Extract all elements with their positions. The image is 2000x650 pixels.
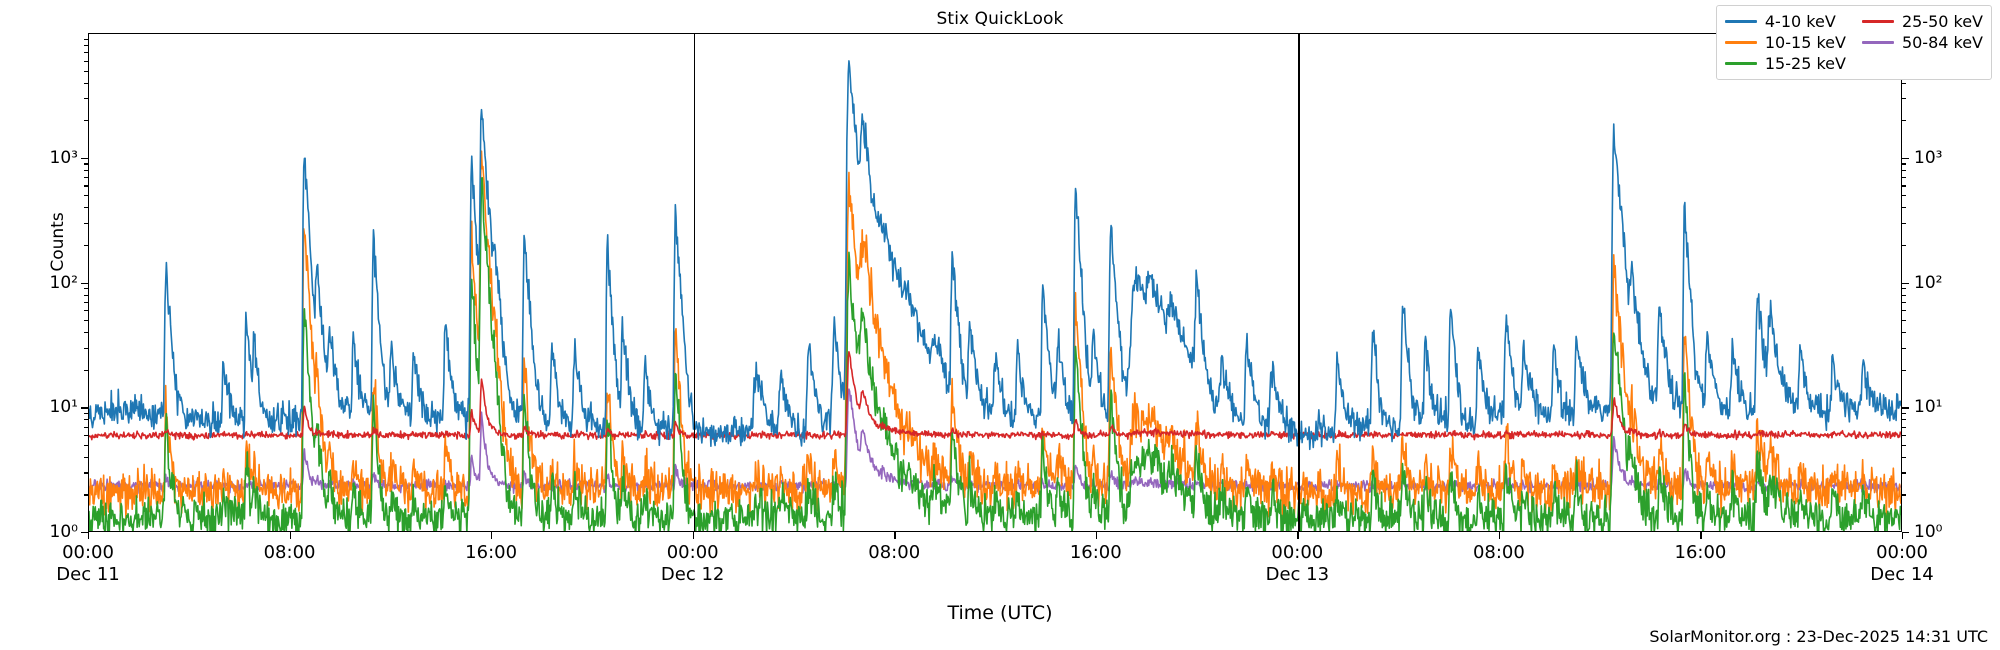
y-minor-tick bbox=[84, 320, 88, 321]
legend-item-25-50-kev: 25-50 keV bbox=[1862, 11, 1983, 31]
x-tick-time: 16:00 bbox=[1675, 542, 1727, 563]
legend-color-swatch bbox=[1725, 20, 1757, 23]
y-tick-label-left: 10⁰ bbox=[0, 522, 78, 542]
x-tick-time: 08:00 bbox=[264, 542, 316, 563]
y-minor-tick bbox=[84, 245, 88, 246]
y-minor-tick bbox=[84, 98, 88, 99]
x-axis-label: Time (UTC) bbox=[0, 602, 2000, 624]
y-minor-tick bbox=[1902, 320, 1906, 321]
legend-item-50-84-kev: 50-84 keV bbox=[1862, 32, 1983, 52]
legend-label: 25-50 keV bbox=[1902, 12, 1983, 31]
y-minor-tick bbox=[1902, 223, 1906, 224]
x-tick-mark bbox=[1499, 532, 1500, 539]
y-minor-tick bbox=[84, 419, 88, 420]
x-tick-label: 16:00 bbox=[1675, 542, 1727, 563]
legend-item-4-10-kev: 4-10 keV bbox=[1725, 11, 1846, 31]
day-separator-line bbox=[694, 34, 695, 531]
y-tick-label-right: 10³ bbox=[1914, 148, 1942, 168]
y-minor-tick bbox=[84, 435, 88, 436]
legend-item-15-25-kev: 15-25 keV bbox=[1725, 53, 1846, 73]
y-tick-mark bbox=[1902, 283, 1909, 284]
y-minor-tick bbox=[1902, 348, 1906, 349]
y-minor-tick bbox=[84, 163, 88, 164]
x-tick-label: 16:00 bbox=[465, 542, 517, 563]
y-minor-tick bbox=[84, 494, 88, 495]
x-tick-date: Dec 11 bbox=[56, 564, 119, 585]
legend-color-swatch bbox=[1862, 20, 1894, 23]
y-tick-mark bbox=[81, 158, 88, 159]
x-tick-mark bbox=[290, 532, 291, 539]
x-tick-date: Dec 14 bbox=[1870, 564, 1933, 585]
x-tick-time: 08:00 bbox=[868, 542, 920, 563]
legend-label: 50-84 keV bbox=[1902, 33, 1983, 52]
y-tick-mark bbox=[1902, 158, 1909, 159]
y-minor-tick bbox=[1902, 427, 1906, 428]
y-minor-tick bbox=[84, 52, 88, 53]
series-line-10-15-kev bbox=[89, 151, 1901, 519]
y-minor-tick bbox=[1902, 295, 1906, 296]
series-paths bbox=[89, 34, 1901, 531]
y-tick-label-left: 10³ bbox=[0, 148, 78, 168]
y-minor-tick bbox=[84, 61, 88, 62]
plot-area bbox=[88, 33, 1902, 532]
x-tick-mark bbox=[491, 532, 492, 539]
y-tick-label-right: 10⁰ bbox=[1914, 522, 1942, 542]
y-tick-label-left: 10² bbox=[0, 273, 78, 293]
x-tick-mark bbox=[894, 532, 895, 539]
y-minor-tick bbox=[84, 302, 88, 303]
x-tick-label: 16:00 bbox=[1070, 542, 1122, 563]
y-tick-mark bbox=[81, 283, 88, 284]
y-minor-tick bbox=[1902, 494, 1906, 495]
x-tick-label: 00:00Dec 13 bbox=[1266, 542, 1329, 585]
x-tick-mark bbox=[88, 532, 89, 539]
y-minor-tick bbox=[84, 185, 88, 186]
y-minor-tick bbox=[84, 195, 88, 196]
y-minor-tick bbox=[1902, 170, 1906, 171]
stix-quicklook-figure: Stix QuickLook Counts 10⁰10¹10²10³ 10⁰10… bbox=[0, 0, 2000, 650]
x-tick-date: Dec 13 bbox=[1266, 564, 1329, 585]
y-minor-tick bbox=[1902, 419, 1906, 420]
y-minor-tick bbox=[84, 348, 88, 349]
legend-item-empty bbox=[1862, 53, 1983, 73]
y-minor-tick bbox=[84, 472, 88, 473]
y-minor-tick bbox=[1902, 413, 1906, 414]
y-minor-tick bbox=[84, 177, 88, 178]
chart-title: Stix QuickLook bbox=[0, 9, 2000, 29]
y-tick-label-left: 10¹ bbox=[0, 397, 78, 417]
x-tick-label: 08:00 bbox=[264, 542, 316, 563]
y-minor-tick bbox=[1902, 207, 1906, 208]
y-minor-tick bbox=[84, 370, 88, 371]
y-minor-tick bbox=[1902, 457, 1906, 458]
y-minor-tick bbox=[1902, 445, 1906, 446]
x-tick-date: Dec 12 bbox=[661, 564, 724, 585]
x-tick-label: 08:00 bbox=[868, 542, 920, 563]
x-tick-time: 00:00 bbox=[1271, 542, 1323, 563]
y-minor-tick bbox=[84, 71, 88, 72]
x-tick-time: 00:00 bbox=[62, 542, 114, 563]
x-tick-label: 00:00Dec 14 bbox=[1870, 542, 1933, 585]
y-tick-label-right: 10¹ bbox=[1914, 397, 1942, 417]
x-tick-mark bbox=[693, 532, 694, 539]
x-tick-mark bbox=[1297, 532, 1298, 539]
y-minor-tick bbox=[84, 310, 88, 311]
x-tick-label: 08:00 bbox=[1473, 542, 1525, 563]
x-tick-mark bbox=[1902, 532, 1903, 539]
y-minor-tick bbox=[84, 295, 88, 296]
y-minor-tick bbox=[1902, 245, 1906, 246]
y-minor-tick bbox=[84, 39, 88, 40]
y-minor-tick bbox=[84, 457, 88, 458]
y-minor-tick bbox=[1902, 163, 1906, 164]
series-canvas bbox=[89, 34, 1901, 531]
x-tick-label: 00:00Dec 11 bbox=[56, 542, 119, 585]
y-tick-mark bbox=[81, 532, 88, 533]
y-minor-tick bbox=[84, 223, 88, 224]
series-line-4-10-kev bbox=[89, 61, 1901, 449]
y-minor-tick bbox=[84, 207, 88, 208]
y-minor-tick bbox=[1902, 195, 1906, 196]
y-minor-tick bbox=[1902, 370, 1906, 371]
x-tick-mark bbox=[1096, 532, 1097, 539]
y-minor-tick bbox=[84, 45, 88, 46]
y-minor-tick bbox=[84, 413, 88, 414]
y-minor-tick bbox=[84, 445, 88, 446]
x-tick-time: 08:00 bbox=[1473, 542, 1525, 563]
legend-color-swatch bbox=[1862, 41, 1894, 44]
y-minor-tick bbox=[84, 170, 88, 171]
x-tick-time: 16:00 bbox=[1070, 542, 1122, 563]
y-minor-tick bbox=[1902, 185, 1906, 186]
y-minor-tick bbox=[84, 120, 88, 121]
legend-label: 15-25 keV bbox=[1765, 54, 1846, 73]
x-tick-time: 00:00 bbox=[667, 542, 719, 563]
y-minor-tick bbox=[84, 288, 88, 289]
x-tick-time: 16:00 bbox=[465, 542, 517, 563]
y-minor-tick bbox=[1902, 83, 1906, 84]
legend-label: 4-10 keV bbox=[1765, 12, 1836, 31]
x-tick-mark bbox=[1700, 532, 1701, 539]
x-tick-time: 00:00 bbox=[1876, 542, 1928, 563]
y-minor-tick bbox=[1902, 435, 1906, 436]
y-minor-tick bbox=[1902, 98, 1906, 99]
legend-item-10-15-kev: 10-15 keV bbox=[1725, 32, 1846, 52]
legend-color-swatch bbox=[1725, 62, 1757, 65]
watermark-credit: SolarMonitor.org : 23-Dec-2025 14:31 UTC bbox=[1649, 627, 1988, 646]
y-minor-tick bbox=[1902, 332, 1906, 333]
y-minor-tick bbox=[1902, 288, 1906, 289]
y-tick-mark bbox=[1902, 407, 1909, 408]
y-minor-tick bbox=[1902, 120, 1906, 121]
y-minor-tick bbox=[1902, 472, 1906, 473]
y-minor-tick bbox=[84, 332, 88, 333]
y-minor-tick bbox=[84, 427, 88, 428]
y-minor-tick bbox=[1902, 177, 1906, 178]
x-tick-label: 00:00Dec 12 bbox=[661, 542, 724, 585]
legend: 4-10 keV10-15 keV15-25 keV25-50 keV50-84… bbox=[1716, 5, 1992, 80]
y-tick-mark bbox=[81, 407, 88, 408]
y-minor-tick bbox=[1902, 310, 1906, 311]
y-minor-tick bbox=[84, 83, 88, 84]
y-tick-label-right: 10² bbox=[1914, 273, 1942, 293]
day-separator-line bbox=[1298, 34, 1299, 531]
y-minor-tick bbox=[1902, 302, 1906, 303]
legend-label: 10-15 keV bbox=[1765, 33, 1846, 52]
legend-color-swatch bbox=[1725, 41, 1757, 44]
